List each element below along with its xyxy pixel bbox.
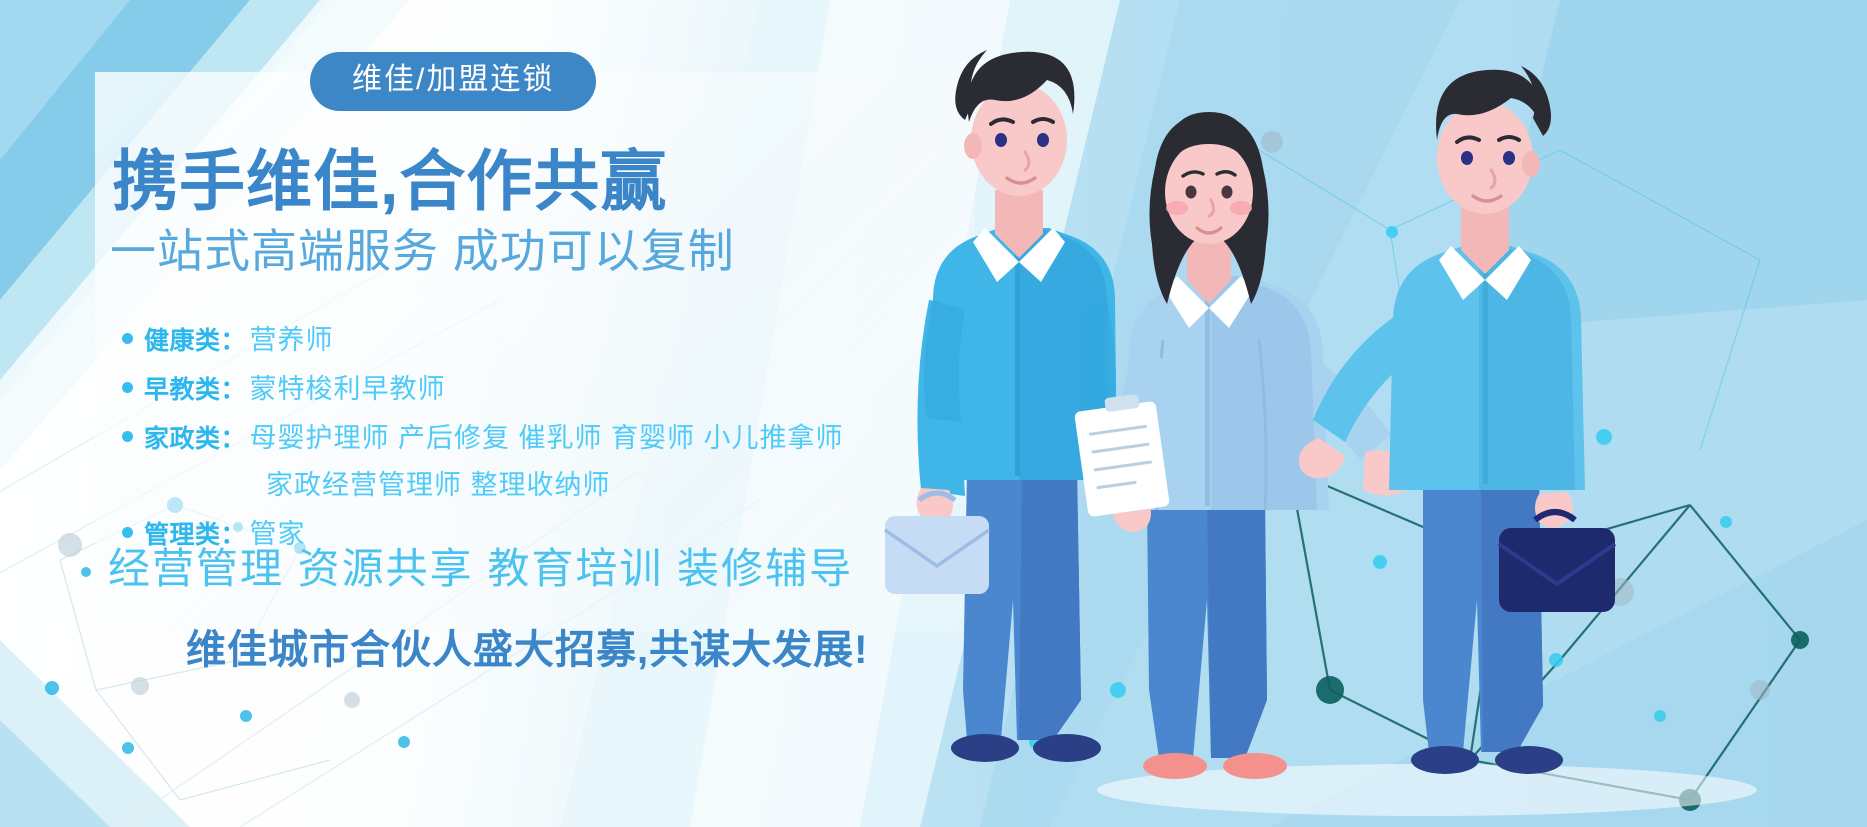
subheadline: 一站式高端服务 成功可以复制 [110, 228, 735, 274]
bullet-dot-icon [122, 382, 133, 393]
category-label: 早教类 [144, 370, 221, 406]
features-line: 经营管理 资源共享 教育培训 装修辅导 [108, 548, 853, 590]
category-colon: ： [221, 419, 246, 455]
brand-badge: 维佳/加盟连锁 [310, 52, 596, 111]
category-value: 母婴护理师 产后修复 催乳师 育婴师 小儿推拿师 [250, 416, 844, 455]
call-to-action-line: 维佳城市合伙人盛大招募,共谋大发展! [186, 630, 868, 670]
category-value-continued: 家政经营管理师 整理收纳师 [266, 463, 942, 502]
category-item-housekeeping: 家政类 ： 母婴护理师 产后修复 催乳师 育婴师 小儿推拿师 [122, 416, 942, 455]
bullet-dot-icon [122, 333, 133, 344]
promotional-banner: 维佳/加盟连锁 携手维佳,合作共赢 一站式高端服务 成功可以复制 健康类 ： 营… [0, 0, 1867, 827]
category-value: 蒙特梭利早教师 [250, 367, 446, 406]
category-colon: ： [221, 321, 246, 357]
bullet-dot-icon [122, 431, 133, 442]
category-value: 营养师 [250, 318, 334, 357]
headline: 携手维佳,合作共赢 [112, 148, 667, 214]
category-item-health: 健康类 ： 营养师 [122, 318, 942, 357]
category-label: 健康类 [144, 321, 221, 357]
category-label: 家政类 [144, 419, 221, 455]
category-item-early-education: 早教类 ： 蒙特梭利早教师 [122, 367, 942, 406]
bullet-dot-icon [122, 527, 133, 538]
category-colon: ： [221, 370, 246, 406]
banner-content: 维佳/加盟连锁 携手维佳,合作共赢 一站式高端服务 成功可以复制 健康类 ： 营… [0, 0, 1867, 827]
category-list: 健康类 ： 营养师 早教类 ： 蒙特梭利早教师 家政类 ： 母婴护理师 产后修复… [122, 318, 942, 561]
